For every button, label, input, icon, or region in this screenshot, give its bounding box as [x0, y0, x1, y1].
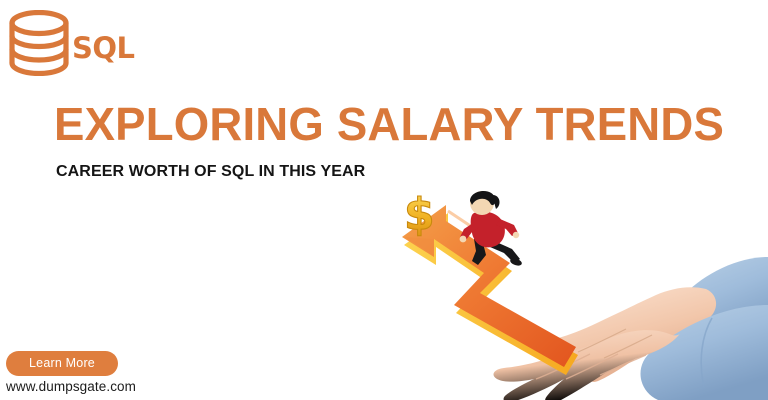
page-subtitle: CAREER WORTH OF SQL IN THIS YEAR — [56, 162, 734, 182]
database-cylinder-icon — [8, 10, 70, 76]
page-title: EXPLORING SALARY TRENDS — [54, 98, 727, 150]
learn-more-button[interactable]: Learn More — [6, 351, 118, 376]
svg-text:$: $ — [404, 189, 435, 240]
site-url-label: www.dumpsgate.com — [6, 379, 136, 395]
dollar-sign-icon: $ — [404, 189, 435, 240]
salary-growth-illustration: $ — [390, 185, 768, 400]
brand-wordmark: SQL — [72, 18, 135, 70]
brand-logo: SQL — [8, 8, 198, 80]
headline-block: EXPLORING SALARY TRENDS CAREER WORTH OF … — [54, 98, 734, 182]
promo-banner: SQL EXPLORING SALARY TRENDS CAREER WORTH… — [0, 0, 768, 400]
